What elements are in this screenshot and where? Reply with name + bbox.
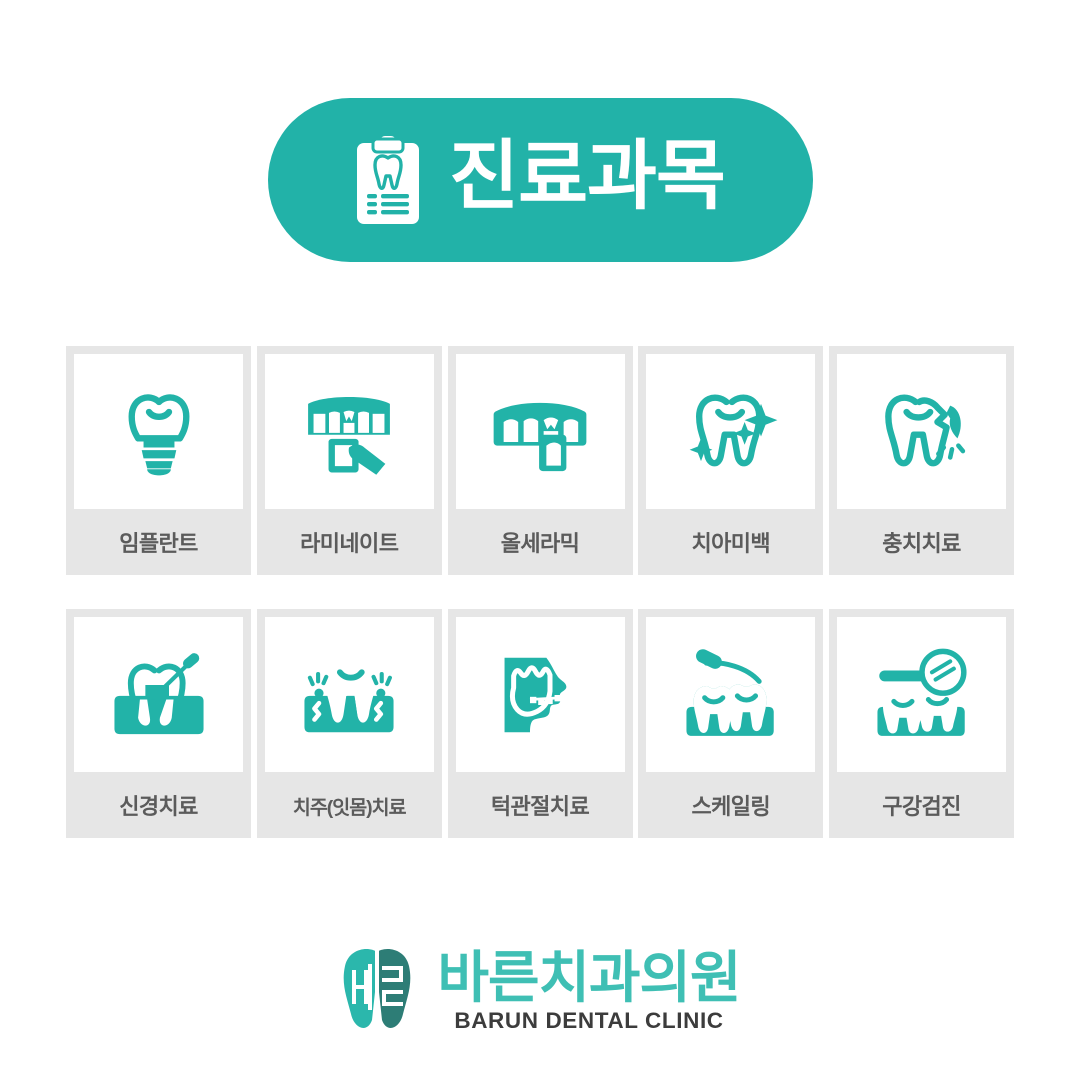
- logo-text-block: 바른치과의원 BARUN DENTAL CLINIC: [437, 948, 740, 1034]
- services-row-2: 신경치료: [66, 609, 1014, 838]
- clipboard-tooth-icon: [355, 136, 421, 224]
- jaw-profile-icon: [490, 645, 590, 745]
- service-card-cavity[interactable]: 충치치료: [829, 346, 1014, 575]
- root-canal-icon: [109, 645, 209, 745]
- services-grid: 임플란트: [66, 346, 1014, 838]
- service-icon-area: [265, 617, 434, 772]
- service-label: 치아미백: [691, 509, 770, 575]
- service-card-all-ceramic[interactable]: 올세라믹: [448, 346, 633, 575]
- tooth-sparkle-icon: [681, 382, 781, 482]
- service-card-scaling[interactable]: 스케일링: [638, 609, 823, 838]
- service-card-root-canal[interactable]: 신경치료: [66, 609, 251, 838]
- dental-mirror-icon: [872, 645, 972, 745]
- page-title-pill: 진료과목: [268, 98, 813, 262]
- service-label: 임플란트: [119, 509, 198, 575]
- clinic-name-korean: 바른치과의원: [437, 948, 740, 1007]
- service-label: 치주(잇몸)치료: [293, 772, 406, 838]
- service-card-veneer[interactable]: 라미네이트: [257, 346, 442, 575]
- gum-disease-icon: [299, 645, 399, 745]
- header-section: 진료과목: [268, 98, 813, 262]
- service-icon-area: [74, 617, 243, 772]
- services-infographic: 진료과목: [0, 0, 1080, 1080]
- scaling-tool-icon: [681, 645, 781, 745]
- ceramic-bridge-icon: [490, 382, 590, 482]
- service-icon-area: [837, 354, 1006, 509]
- service-icon-area: [646, 617, 815, 772]
- page-title: 진료과목: [449, 139, 725, 221]
- service-icon-area: [265, 354, 434, 509]
- service-label: 신경치료: [119, 772, 198, 838]
- service-icon-area: [837, 617, 1006, 772]
- footer-branding: 바른치과의원 BARUN DENTAL CLINIC: [339, 946, 740, 1036]
- service-icon-area: [646, 354, 815, 509]
- cavity-tooth-icon: [872, 382, 972, 482]
- services-row-1: 임플란트: [66, 346, 1014, 575]
- tooth-logo-mark: [339, 946, 415, 1036]
- service-card-tmj[interactable]: 턱관절치료: [448, 609, 633, 838]
- service-icon-area: [456, 617, 625, 772]
- dental-implant-icon: [109, 382, 209, 482]
- veneer-hand-icon: [299, 382, 399, 482]
- logo-lockup: 바른치과의원 BARUN DENTAL CLINIC: [339, 946, 740, 1036]
- clinic-name-english: BARUN DENTAL CLINIC: [454, 1008, 723, 1034]
- service-card-whitening[interactable]: 치아미백: [638, 346, 823, 575]
- service-card-implant[interactable]: 임플란트: [66, 346, 251, 575]
- service-card-oral-exam[interactable]: 구강검진: [829, 609, 1014, 838]
- service-card-periodontal[interactable]: 치주(잇몸)치료: [257, 609, 442, 838]
- service-label: 충치치료: [882, 509, 961, 575]
- service-label: 구강검진: [882, 772, 961, 838]
- service-label: 스케일링: [691, 772, 770, 838]
- service-icon-area: [74, 354, 243, 509]
- service-label: 올세라믹: [501, 509, 580, 575]
- service-label: 라미네이트: [300, 509, 398, 575]
- service-label: 턱관절치료: [491, 772, 589, 838]
- service-icon-area: [456, 354, 625, 509]
